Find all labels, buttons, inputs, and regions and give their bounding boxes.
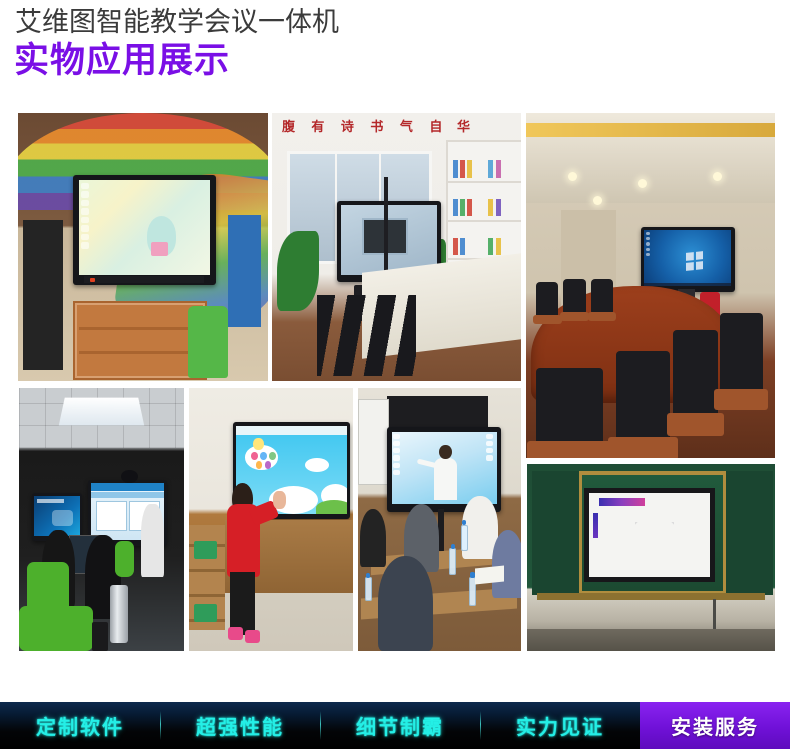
- app-icon: [269, 452, 276, 460]
- photo-conference-room[interactable]: [526, 113, 775, 458]
- sun-icon: [253, 438, 263, 449]
- desktop-icon-column: [393, 434, 402, 499]
- child-hand: [273, 491, 286, 509]
- child-shoe: [228, 627, 243, 640]
- ceiling-downlight: [593, 196, 602, 205]
- dark-cabinet: [23, 220, 63, 370]
- banner-item-proof[interactable]: 实力见证: [480, 702, 640, 749]
- grass-hill: [316, 500, 347, 514]
- notebook-paper: [475, 565, 504, 584]
- panel-screen: [341, 205, 437, 274]
- gold-cove-light: [526, 123, 775, 137]
- cable-hanging: [713, 599, 716, 629]
- ceiling-camera: [121, 470, 138, 483]
- water-bottle: [461, 525, 468, 551]
- panel-power-led: [90, 278, 95, 282]
- interactive-whiteboard-panel: [584, 488, 715, 582]
- chalkboard-right-wing: [723, 471, 773, 594]
- conference-chair: [720, 313, 762, 392]
- conference-chair: [536, 282, 558, 317]
- banner-item-custom-software[interactable]: 定制软件: [0, 702, 160, 749]
- cartoon-accent: [151, 242, 168, 255]
- feature-banner-items: 定制软件 超强性能 细节制霸 实力见证 安装服务: [0, 702, 790, 749]
- photo-gallery: 腹有诗 书气自 华: [0, 100, 790, 660]
- audience-member: [492, 530, 521, 598]
- desktop-icon-column-right: [486, 434, 495, 499]
- thermos-flask: [110, 585, 128, 643]
- conference-chair: [616, 351, 671, 441]
- feature-banner: 定制软件 超强性能 细节制霸 实力见证 安装服务: [0, 702, 790, 749]
- chalkboard-left-wing: [532, 471, 582, 594]
- standing-person: [141, 504, 164, 578]
- photo-office-training-room[interactable]: [19, 388, 184, 651]
- green-office-chair: [19, 606, 93, 651]
- audience-member: [378, 556, 433, 651]
- page-header: 艾维图智能教学会议一体机 实物应用展示: [0, 0, 790, 100]
- cloud-shape: [305, 458, 330, 472]
- conference-chair: [673, 330, 718, 416]
- interactive-flat-panel: [73, 175, 216, 285]
- ceiling-downlight: [568, 172, 577, 181]
- interactive-flat-panel: [641, 227, 736, 293]
- banner-item-installation-service[interactable]: 安装服务: [640, 702, 790, 749]
- chalk-tray: [537, 593, 765, 600]
- panel-screen: [79, 180, 210, 274]
- presenter-head: [439, 445, 452, 459]
- app-content-panel: [96, 501, 127, 530]
- toolbar-menu-strip: [599, 498, 645, 506]
- child-legs: [230, 572, 255, 635]
- meeting-chairs: [317, 295, 417, 375]
- remote-control: [92, 622, 109, 651]
- photo-blackboard-classroom[interactable]: [527, 464, 775, 651]
- storage-bin: [194, 541, 217, 559]
- windows-logo-icon: [686, 251, 703, 271]
- child-shoe: [245, 630, 260, 643]
- screen-graphic: [52, 510, 72, 526]
- green-kids-chair: [188, 306, 228, 378]
- conference-chair: [536, 368, 603, 444]
- page-subtitle: 实物应用展示: [14, 41, 230, 81]
- green-office-chair: [115, 541, 135, 578]
- desktop-icon-column: [646, 232, 652, 283]
- photo-library-reading-room[interactable]: 腹有诗 书气自 华: [272, 113, 521, 381]
- side-projection-screen: [358, 399, 389, 485]
- handwriting-marks: [635, 522, 674, 557]
- desktop-icon-column: [81, 183, 93, 268]
- fluorescent-light-panel: [59, 398, 145, 426]
- floor: [527, 629, 775, 651]
- blue-wall-board: [228, 215, 261, 328]
- screen-header-bar: [37, 499, 64, 503]
- water-bottle: [365, 577, 372, 601]
- ceiling-downlight: [713, 172, 722, 181]
- app-toolbar: [91, 492, 164, 498]
- banner-item-details[interactable]: 细节制霸: [320, 702, 480, 749]
- panel-screen: [392, 432, 497, 504]
- app-titlebar: [91, 483, 164, 491]
- calligraphy-banner: 腹有诗 书气自 华: [282, 116, 466, 145]
- water-bottle: [449, 548, 456, 574]
- page-title: 艾维图智能教学会议一体机: [15, 7, 339, 37]
- app-toolbar: [236, 426, 348, 435]
- side-tool-strip: [593, 513, 598, 538]
- banner-item-performance[interactable]: 超强性能: [160, 702, 320, 749]
- panel-logo-bar: [84, 276, 204, 284]
- conference-chair: [591, 279, 613, 314]
- ceiling-downlight: [638, 179, 647, 188]
- toy-storage-shelf: [73, 301, 207, 380]
- photo-child-touch-screen[interactable]: [189, 388, 353, 651]
- photo-seminar-training[interactable]: [358, 388, 521, 651]
- panel-screen: [644, 230, 731, 286]
- conference-chair: [563, 279, 585, 314]
- photo-kindergarten-classroom[interactable]: [18, 113, 268, 381]
- storage-bin: [194, 604, 217, 622]
- audience-member: [360, 509, 386, 567]
